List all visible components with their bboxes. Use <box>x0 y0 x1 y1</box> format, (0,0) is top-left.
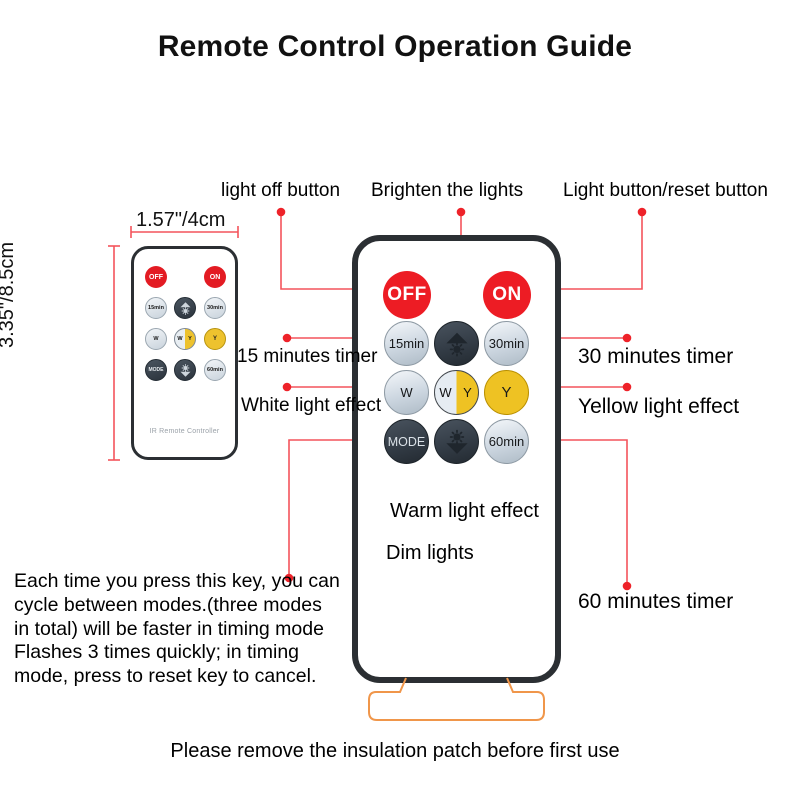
dim-sun-down-icon <box>442 427 472 457</box>
small-30min-button[interactable]: 30min <box>204 297 226 319</box>
mode-description-line-3: in total) will be faster in timing mode <box>14 618 348 642</box>
small-15min-button[interactable]: 15min <box>145 297 167 319</box>
small-warm-y-label: Y <box>185 336 195 342</box>
timer-60min-button[interactable]: 60min <box>484 419 529 464</box>
callout-yellow-light: Yellow light effect <box>578 396 739 419</box>
small-mode-button[interactable]: MODE <box>145 359 167 381</box>
mode-description-line-2: cycle between modes.(three modes <box>14 594 348 618</box>
yellow-light-button[interactable]: Y <box>484 370 529 415</box>
small-white-button[interactable]: W <box>145 328 167 350</box>
brighten-sun-up-icon <box>178 301 193 316</box>
mode-description-line-5: mode, press to reset key to cancel. <box>14 665 348 689</box>
footer-note: Please remove the insulation patch befor… <box>0 740 790 763</box>
dim-sun-down-icon <box>178 363 193 378</box>
small-remote-body: OFF ON 15min <box>131 246 238 460</box>
callout-white-light: White light effect <box>241 396 381 417</box>
callout-light-off: light off button <box>221 181 340 202</box>
height-dimension-label: 3.35"/8.5cm <box>0 242 19 348</box>
width-dimension-label: 1.57"/4cm <box>136 209 225 232</box>
callout-brighten: Brighten the lights <box>371 181 523 202</box>
small-remote-keypad: OFF ON 15min <box>143 266 229 386</box>
brighten-button[interactable] <box>434 321 479 366</box>
mode-button[interactable]: MODE <box>384 419 429 464</box>
callout-timer-30: 30 minutes timer <box>578 346 733 369</box>
callout-timer-15: 15 minutes timer <box>237 347 377 368</box>
warm-w-label: W <box>435 385 457 400</box>
callout-timer-60: 60 minutes timer <box>578 591 733 614</box>
small-dim-button[interactable] <box>174 359 196 381</box>
brighten-sun-up-icon <box>442 329 472 359</box>
dim-button[interactable] <box>434 419 479 464</box>
white-light-button[interactable]: W <box>384 370 429 415</box>
small-warm-button[interactable]: W Y <box>174 328 196 350</box>
infographic-root: Remote Control Operation Guide <box>0 0 790 790</box>
mode-description-line-4: Flashes 3 times quickly; in timing <box>14 641 348 665</box>
callout-dim-lights: Dim lights <box>386 542 474 565</box>
callout-light-reset: Light button/reset button <box>563 181 768 202</box>
page-title: Remote Control Operation Guide <box>0 30 790 64</box>
insulation-tab <box>352 676 561 724</box>
mode-description: Each time you press this key, you can cy… <box>14 570 348 689</box>
off-button[interactable]: OFF <box>383 271 431 319</box>
warm-y-label: Y <box>457 385 478 400</box>
mode-description-line-1: Each time you press this key, you can <box>14 570 348 594</box>
small-off-button[interactable]: OFF <box>145 266 167 288</box>
timer-15min-button[interactable]: 15min <box>384 321 429 366</box>
small-on-button[interactable]: ON <box>204 266 226 288</box>
small-60min-button[interactable]: 60min <box>204 359 226 381</box>
small-remote-caption: IR Remote Controller <box>134 428 235 435</box>
remote-body: OFF ON 15min 30min W <box>352 235 561 683</box>
small-yellow-button[interactable]: Y <box>204 328 226 350</box>
small-brighten-button[interactable] <box>174 297 196 319</box>
small-warm-w-label: W <box>175 336 185 342</box>
timer-30min-button[interactable]: 30min <box>484 321 529 366</box>
warm-light-button[interactable]: W Y <box>434 370 479 415</box>
callout-warm-light: Warm light effect <box>390 500 539 523</box>
on-button[interactable]: ON <box>483 271 531 319</box>
